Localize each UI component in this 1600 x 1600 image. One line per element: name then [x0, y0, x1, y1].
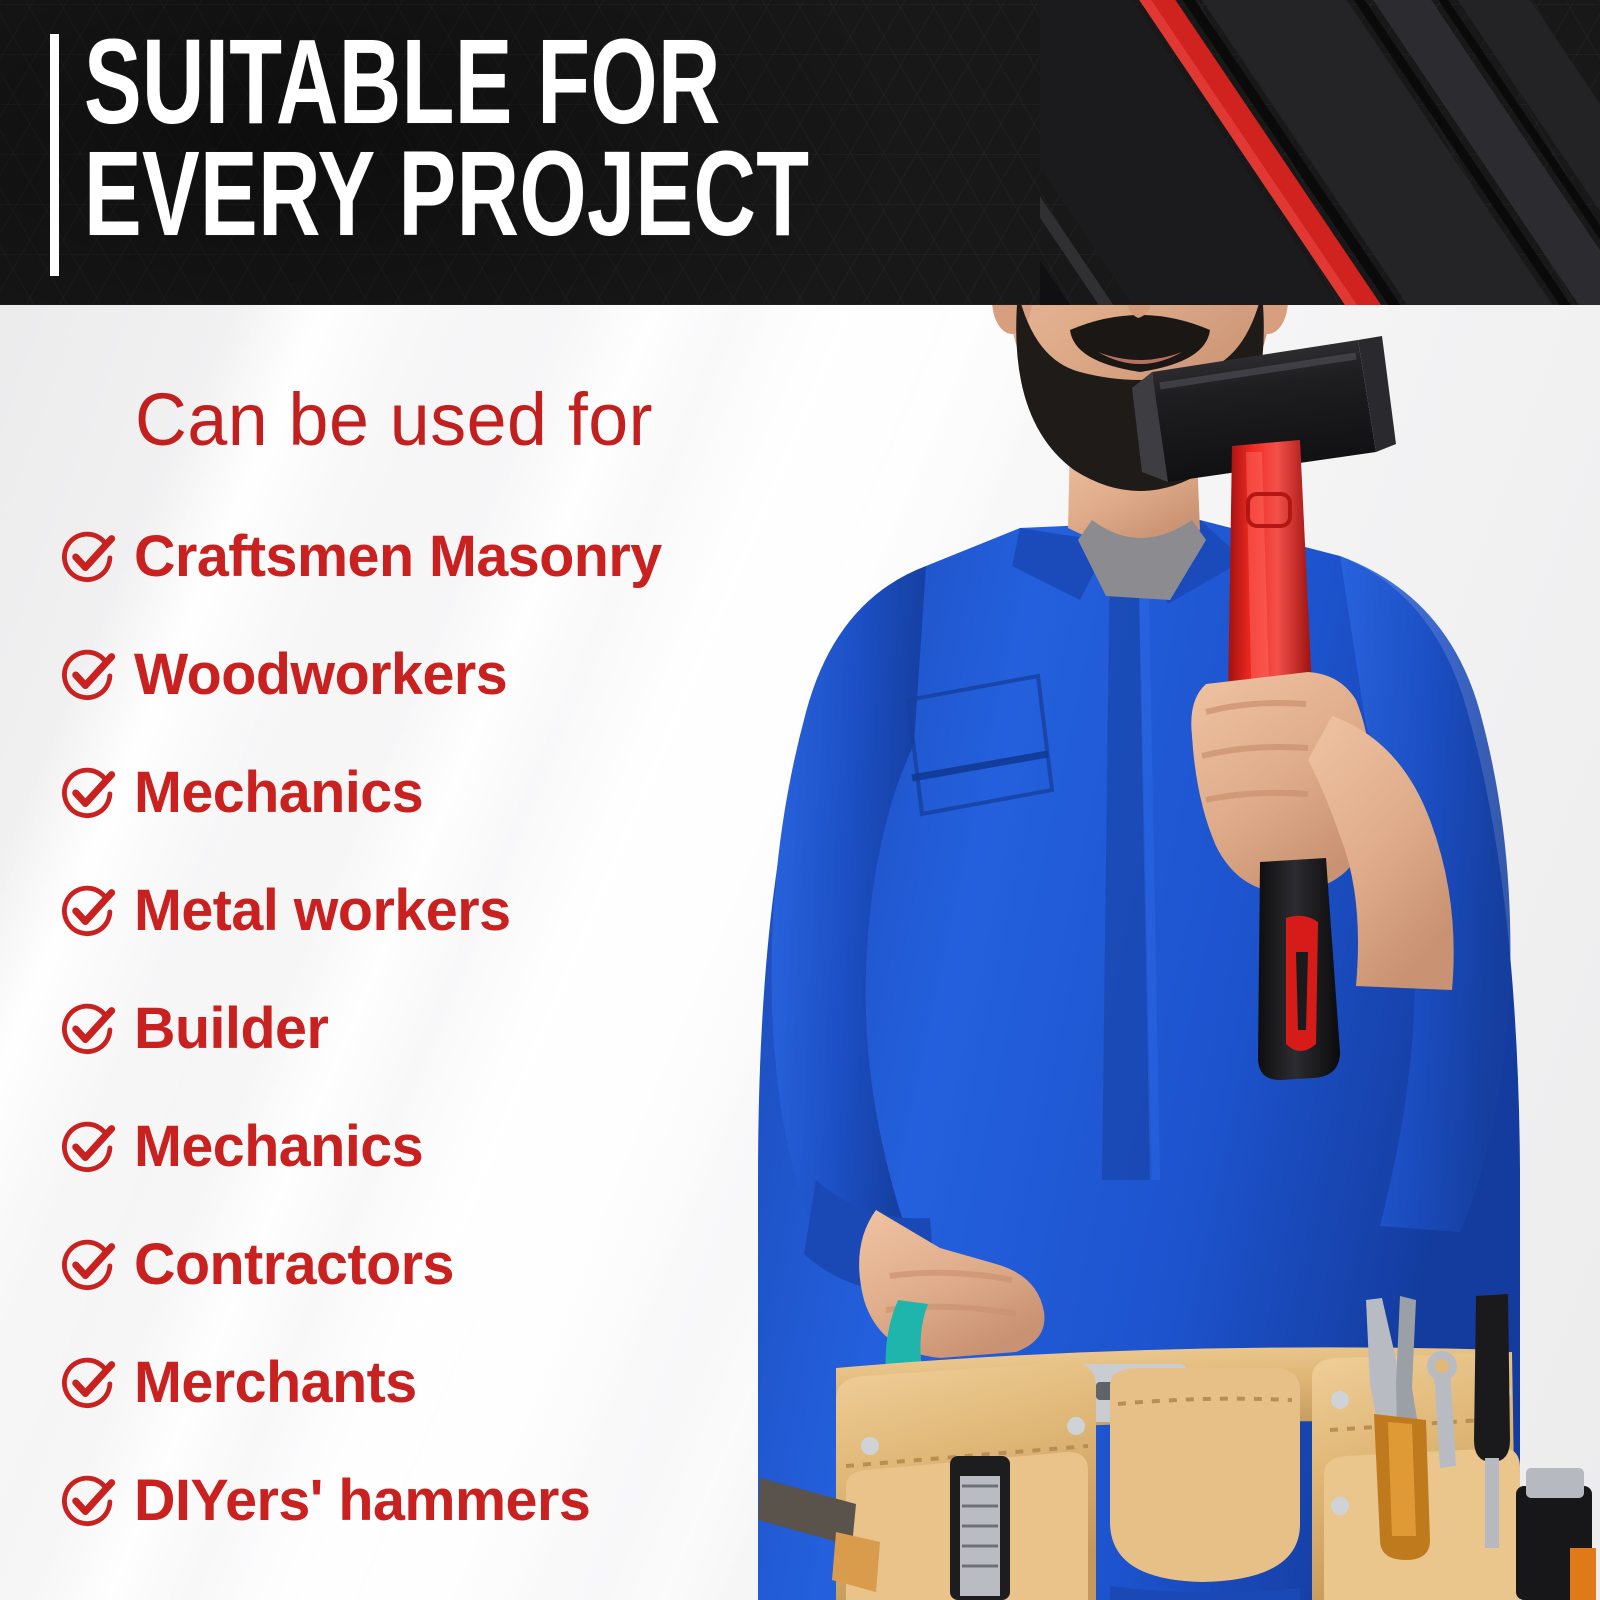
- check-circle-icon: [60, 765, 116, 821]
- header-banner: SUITABLE FOR EVERY PROJECT: [0, 0, 1600, 305]
- use-case-label: Builder: [134, 1000, 328, 1058]
- pouch-rivet: [1067, 1417, 1085, 1435]
- check-circle-icon: [60, 529, 116, 585]
- use-case-label: Woodworkers: [134, 646, 507, 704]
- screwdriver-handle: [1474, 1294, 1510, 1462]
- diagonal-stripe-decor: [1040, 0, 1600, 305]
- use-case-item: Merchants: [60, 1324, 820, 1442]
- pouch-rivet: [1331, 1391, 1349, 1409]
- use-case-item: Builder: [60, 970, 820, 1088]
- page-title: SUITABLE FOR EVERY PROJECT: [84, 22, 1044, 240]
- check-circle-icon: [60, 883, 116, 939]
- check-circle-icon: [60, 1237, 116, 1293]
- screwdriver-shaft: [1485, 1458, 1499, 1548]
- use-case-label: Mechanics: [134, 1118, 423, 1176]
- use-case-label: Contractors: [134, 1236, 454, 1294]
- wrench-ring-hole: [1435, 1359, 1449, 1373]
- use-case-label: DIYers' hammers: [134, 1472, 590, 1530]
- use-case-label: Metal workers: [134, 882, 511, 940]
- use-case-item: DIYers' hammers: [60, 1442, 820, 1560]
- use-case-item: Mechanics: [60, 734, 820, 852]
- use-case-item: Mechanics: [60, 1088, 820, 1206]
- check-circle-icon: [60, 1355, 116, 1411]
- check-circle-icon: [60, 1001, 116, 1057]
- pouch-rivet: [1331, 1497, 1349, 1515]
- use-case-list: Craftsmen MasonryWoodworkersMechanicsMet…: [60, 498, 820, 1560]
- check-circle-icon: [60, 1119, 116, 1175]
- product-feature-poster: SUITABLE FOR EVERY PROJECT Can be used f…: [0, 0, 1600, 1600]
- title-line-1: SUITABLE FOR: [84, 22, 852, 141]
- use-case-item: Woodworkers: [60, 616, 820, 734]
- pliers-handle-highlight: [1388, 1422, 1416, 1536]
- use-case-label: Craftsmen Masonry: [134, 528, 662, 586]
- check-circle-icon: [60, 647, 116, 703]
- tape-measure-clip: [1526, 1468, 1584, 1498]
- stripe-svg: [1040, 0, 1600, 305]
- use-case-label: Mechanics: [134, 764, 423, 822]
- tape-measure-accent: [1570, 1548, 1596, 1600]
- pouch-rivet: [861, 1437, 879, 1455]
- use-case-label: Merchants: [134, 1354, 417, 1412]
- use-case-item: Craftsmen Masonry: [60, 498, 820, 616]
- hammer-grip-inlay-slot: [1296, 952, 1308, 1030]
- title-accent-bar: [50, 34, 59, 276]
- check-circle-icon: [60, 1473, 116, 1529]
- use-case-item: Metal workers: [60, 852, 820, 970]
- use-case-item: Contractors: [60, 1206, 820, 1324]
- title-line-2: EVERY PROJECT: [84, 134, 852, 253]
- hex-keys: [960, 1476, 1000, 1596]
- section-subheading: Can be used for: [135, 383, 653, 457]
